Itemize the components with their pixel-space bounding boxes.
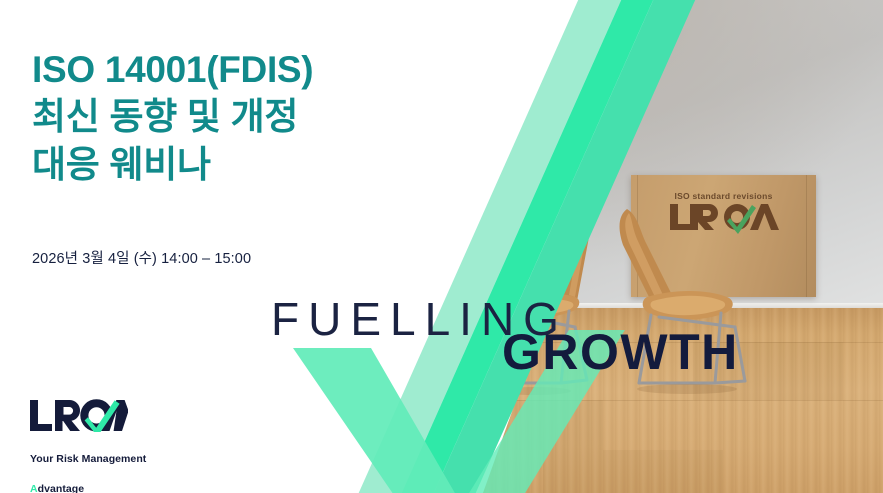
tagline-accent-letter: A — [30, 483, 38, 493]
slogan-growth: GROWTH — [502, 327, 739, 377]
page-title: ISO 14001(FDIS) 최신 동향 및 개정 대응 웨비나 — [32, 46, 432, 188]
tagline-line1: Your Risk Management — [30, 453, 146, 465]
box-caption: ISO standard revisions — [631, 191, 816, 201]
event-datetime: 2026년 3월 4일 (수) 14:00 – 15:00 — [32, 247, 251, 268]
tagline-line2: dvantage — [38, 483, 85, 493]
webinar-banner: ISO standard revisions — [0, 0, 883, 493]
logo-tagline: Your Risk Management Advantage — [30, 437, 146, 493]
hero-photo: ISO standard revisions — [483, 0, 883, 493]
lrqa-logo: Your Risk Management Advantage — [30, 399, 146, 493]
lrqa-wordmark-icon — [30, 399, 128, 432]
